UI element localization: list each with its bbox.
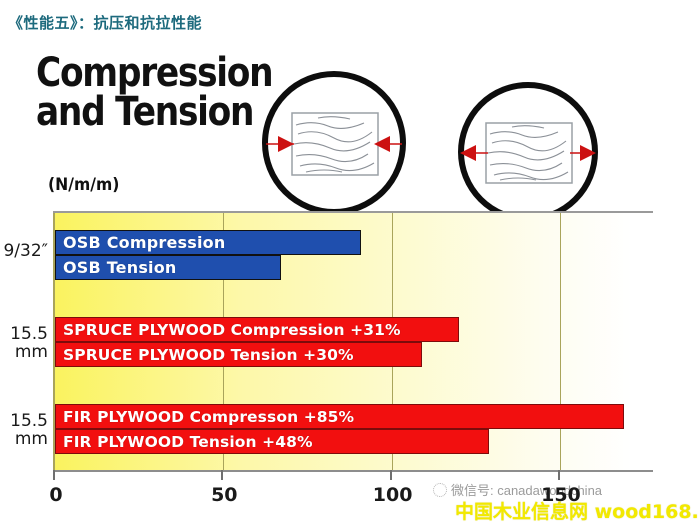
slide-headline: Compression and Tension	[36, 54, 268, 132]
row-label-spruce-text: 15.5	[10, 324, 48, 344]
row-label-fir-unit: mm	[0, 431, 48, 449]
xtick-label-100: 100	[373, 484, 413, 506]
xtick-100	[390, 470, 392, 480]
row-label-osb-text: 9/32″	[3, 241, 48, 261]
row-label-spruce-unit: mm	[0, 344, 48, 362]
units-label: (N/m/m)	[48, 175, 119, 195]
bar-0-1: OSB Tension	[55, 255, 281, 280]
bar-label: SPRUCE PLYWOOD Compression +31%	[56, 321, 401, 339]
xtick-0	[53, 470, 55, 480]
compression-diagram	[258, 68, 410, 218]
xtick-label-0: 0	[49, 484, 62, 506]
row-label-spruce: 15.5 mm	[0, 326, 48, 362]
gridline-150	[560, 213, 561, 470]
bar-label: OSB Tension	[56, 258, 177, 277]
bar-label: FIR PLYWOOD Tension +48%	[56, 433, 313, 451]
bar-label: FIR PLYWOOD Compresson +85%	[56, 408, 354, 426]
bar-1-1: SPRUCE PLYWOOD Tension +30%	[55, 342, 422, 367]
xtick-150	[558, 470, 560, 480]
slide-canvas: 《性能五》：抗压和抗拉性能 Compression and Tension (N…	[0, 0, 698, 526]
bar-label: SPRUCE PLYWOOD Tension +30%	[56, 346, 354, 364]
xtick-label-50: 50	[211, 484, 237, 506]
page-title: 《性能五》：抗压和抗拉性能	[8, 12, 202, 33]
row-label-fir: 15.5 mm	[0, 413, 48, 449]
bar-1-0: SPRUCE PLYWOOD Compression +31%	[55, 317, 459, 342]
bar-label: OSB Compression	[56, 233, 225, 252]
bar-2-0: FIR PLYWOOD Compresson +85%	[55, 404, 624, 429]
row-label-osb: 9/32″	[0, 243, 48, 261]
wechat-icon	[433, 483, 447, 497]
xtick-50	[221, 470, 223, 480]
bar-2-1: FIR PLYWOOD Tension +48%	[55, 429, 489, 454]
row-label-fir-text: 15.5	[10, 411, 48, 431]
xtick-label-150: 150	[541, 484, 581, 506]
headline-line-2: and Tension	[36, 93, 268, 132]
chart-axis-x	[53, 470, 653, 472]
tension-diagram	[452, 80, 604, 228]
bar-0-0: OSB Compression	[55, 230, 361, 255]
chart-plot-area: OSB CompressionOSB TensionSPRUCE PLYWOOD…	[53, 213, 632, 470]
